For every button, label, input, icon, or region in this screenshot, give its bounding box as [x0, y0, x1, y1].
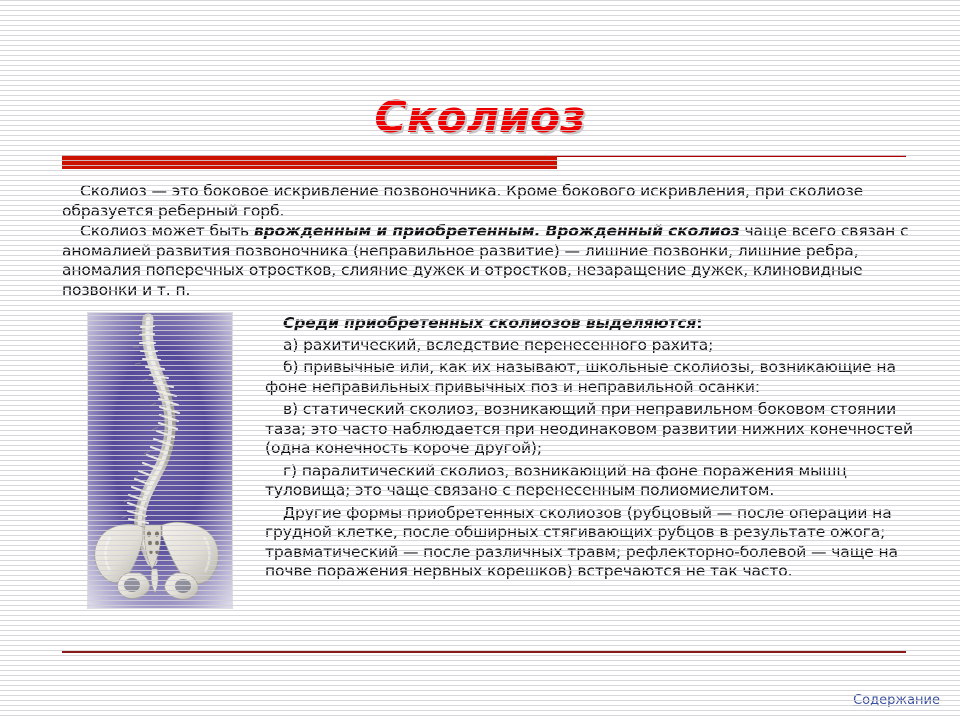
spine-illustration [88, 313, 232, 608]
intro-paragraph-1: Сколиоз — это боковое искривление позвон… [62, 182, 910, 221]
list-item: Другие формы приобретенных сколиозов (ру… [265, 504, 913, 582]
list-item: а) рахитический, вследствие перенесенног… [265, 336, 913, 356]
intro-p2-emphasis-1: врожденным и приобретенным [254, 222, 535, 240]
intro-p2-lead: Сколиоз может быть [80, 222, 254, 240]
intro-p1-text: Сколиоз — это боковое искривление позвон… [62, 182, 863, 220]
list-item: г) паралитический сколиоз, возникающий н… [265, 462, 913, 501]
list-item: б) привычные или, как их называют, школь… [265, 358, 913, 397]
slide-canvas: Сколиоз Сколиоз — это боковое искривлени… [0, 0, 960, 720]
intro-p2-emphasis-2: Врожденный сколиоз [546, 222, 740, 240]
divider-thick-bar [62, 156, 557, 169]
page-title: Сколиоз [0, 92, 960, 144]
list-item: в) статический сколиоз, возникающий при … [265, 400, 913, 459]
acquired-heading: Среди приобретенных сколиозов выделяются… [265, 314, 913, 334]
intro-p2-emphasis-sep: . [534, 222, 545, 240]
footer-divider [62, 651, 906, 653]
intro-paragraph-2: Сколиоз может быть врожденным и приобрет… [62, 222, 910, 300]
spine-svg [88, 313, 232, 608]
acquired-heading-colon: : [696, 314, 702, 332]
intro-text-block: Сколиоз — это боковое искривление позвон… [62, 182, 910, 300]
acquired-scoliosis-block: Среди приобретенных сколиозов выделяются… [265, 314, 913, 582]
acquired-heading-text: Среди приобретенных сколиозов выделяются [283, 314, 696, 332]
contents-link[interactable]: Содержание [853, 693, 940, 708]
title-divider [62, 155, 906, 169]
